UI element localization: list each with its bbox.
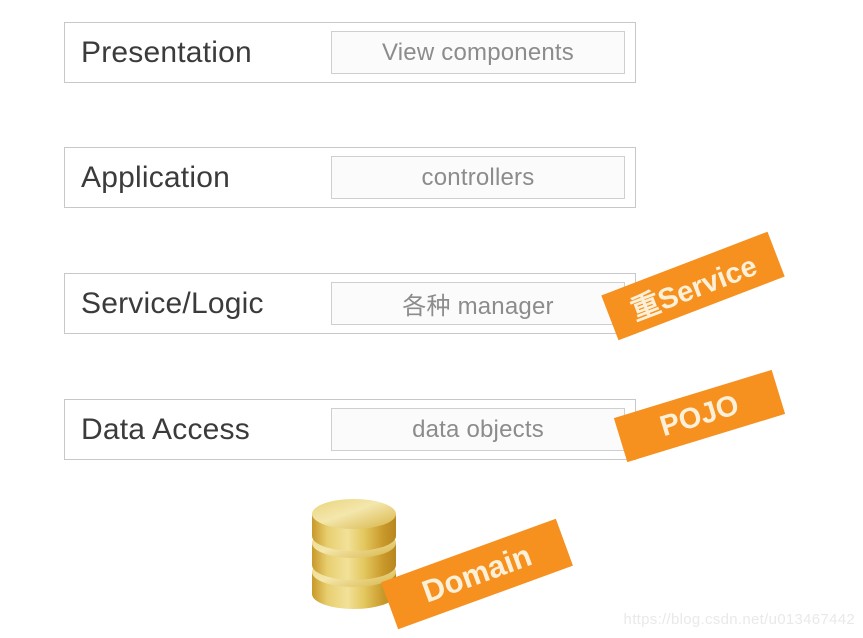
layer-component-box-data-access: data objects: [331, 408, 625, 451]
layer-component-box-presentation: View components: [331, 31, 625, 74]
layer-label-service-logic: Service/Logic: [81, 287, 264, 321]
layer-component-text-presentation: View components: [382, 39, 574, 67]
layer-row-service-logic: Service/Logic 各种 manager: [64, 273, 636, 334]
diagram-canvas: Presentation View components Application…: [0, 0, 863, 638]
annotation-ribbon-pojo-label: POJO: [656, 388, 743, 443]
annotation-ribbon-domain-label: Domain: [417, 538, 536, 611]
layer-label-data-access: Data Access: [81, 413, 250, 447]
layer-component-text-service-logic: 各种 manager: [402, 286, 553, 321]
layer-row-presentation: Presentation View components: [64, 22, 636, 83]
layer-component-text-application: controllers: [422, 164, 535, 192]
annotation-ribbon-service-label: 重Service: [624, 243, 762, 330]
layer-component-text-data-access: data objects: [412, 416, 544, 444]
layer-component-box-service-logic: 各种 manager: [331, 282, 625, 325]
watermark-url: https://blog.csdn.net/u013467442: [624, 611, 855, 628]
annotation-ribbon-domain: Domain: [381, 519, 573, 630]
layer-row-application: Application controllers: [64, 147, 636, 208]
annotation-ribbon-service: 重Service: [601, 232, 784, 341]
layer-label-presentation: Presentation: [81, 36, 252, 70]
annotation-ribbon-pojo: POJO: [614, 370, 785, 462]
layer-row-data-access: Data Access data objects: [64, 399, 636, 460]
layer-label-application: Application: [81, 161, 230, 195]
layer-component-box-application: controllers: [331, 156, 625, 199]
